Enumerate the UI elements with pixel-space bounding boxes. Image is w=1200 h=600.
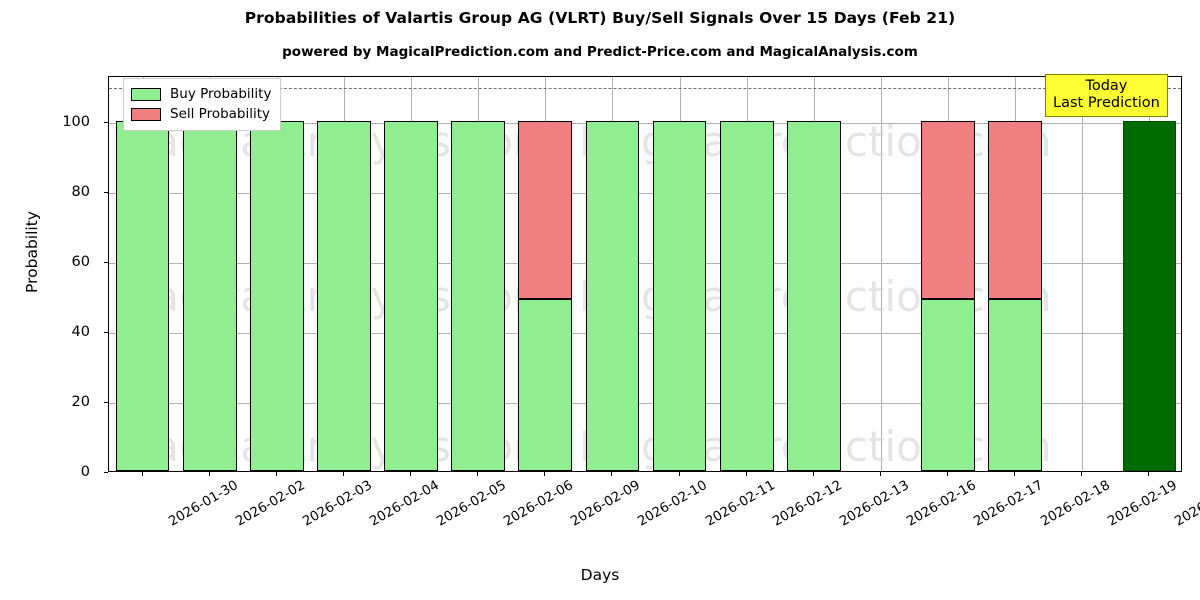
bar-segment-buy[interactable] xyxy=(720,121,774,471)
x-tick-mark xyxy=(544,472,545,476)
x-tick-label: 2026-02-16 xyxy=(904,478,978,530)
legend-item-buy: Buy Probability xyxy=(131,84,271,104)
bar-column[interactable] xyxy=(451,77,505,471)
x-tick-mark xyxy=(880,472,881,476)
bar-segment-buy[interactable] xyxy=(183,121,237,471)
chart-page: Probabilities of Valartis Group AG (VLRT… xyxy=(0,0,1200,600)
gridline-vertical xyxy=(881,77,882,471)
y-tick-label: 100 xyxy=(30,114,90,130)
x-tick-label: 2026-02-10 xyxy=(636,478,710,530)
x-tick-label: 2026-02-04 xyxy=(367,478,441,530)
x-tick-label: 2026-02-18 xyxy=(1039,478,1113,530)
y-tick-label: 40 xyxy=(30,324,90,340)
y-tick-mark xyxy=(104,472,108,473)
bar-segment-buy[interactable] xyxy=(451,121,505,471)
y-tick-label: 20 xyxy=(30,394,90,410)
x-tick-mark xyxy=(813,472,814,476)
legend: Buy Probability Sell Probability xyxy=(123,78,281,131)
bar-column[interactable] xyxy=(921,77,975,471)
x-tick-label: 2026-02-12 xyxy=(770,478,844,530)
x-tick-label: 2026-02-13 xyxy=(837,478,911,530)
x-tick-label: 2026-02-17 xyxy=(971,478,1045,530)
x-tick-label: 2026-02-05 xyxy=(434,478,508,530)
y-tick-label: 60 xyxy=(30,254,90,270)
today-annotation-line1: Today xyxy=(1053,78,1160,95)
x-axis-title: Days xyxy=(0,566,1200,584)
x-tick-mark xyxy=(947,472,948,476)
bar-segment-buy[interactable] xyxy=(518,299,572,471)
x-tick-mark xyxy=(1148,472,1149,476)
legend-item-sell: Sell Probability xyxy=(131,104,271,124)
chart-subtitle: powered by MagicalPrediction.com and Pre… xyxy=(0,44,1200,60)
x-tick-mark xyxy=(276,472,277,476)
x-tick-mark xyxy=(1081,472,1082,476)
bar-segment-buy[interactable] xyxy=(384,121,438,471)
today-annotation-line2: Last Prediction xyxy=(1053,95,1160,112)
y-tick-label: 80 xyxy=(30,184,90,200)
bar-column[interactable] xyxy=(116,77,170,471)
x-tick-mark xyxy=(1014,472,1015,476)
x-tick-mark xyxy=(679,472,680,476)
x-tick-mark xyxy=(611,472,612,476)
today-annotation: Today Last Prediction xyxy=(1045,74,1168,117)
x-tick-label: 2026-02-06 xyxy=(502,478,576,530)
x-tick-mark xyxy=(343,472,344,476)
chart-title: Probabilities of Valartis Group AG (VLRT… xyxy=(0,9,1200,27)
x-tick-label: 2026-01-30 xyxy=(166,478,240,530)
bar-column[interactable] xyxy=(787,77,841,471)
bar-segment-buy[interactable] xyxy=(116,121,170,471)
x-tick-mark xyxy=(142,472,143,476)
x-tick-label: 2026-02-11 xyxy=(703,478,777,530)
bar-column[interactable] xyxy=(720,77,774,471)
bar-column[interactable] xyxy=(1123,77,1177,471)
plot-area: MagicalAnalysis.comMagicalPrediction.com… xyxy=(108,76,1182,472)
bar-column[interactable] xyxy=(518,77,572,471)
bar-column[interactable] xyxy=(317,77,371,471)
x-tick-label: 2026-02-19 xyxy=(1106,478,1180,530)
bar-segment-buy[interactable] xyxy=(988,299,1042,471)
gridline-vertical xyxy=(1082,77,1083,471)
x-tick-mark xyxy=(410,472,411,476)
bar-column[interactable] xyxy=(183,77,237,471)
bar-column[interactable] xyxy=(586,77,640,471)
x-tick-label: 2026-02-03 xyxy=(300,478,374,530)
bar-segment-buy[interactable] xyxy=(317,121,371,471)
x-tick-mark xyxy=(746,472,747,476)
bar-column[interactable] xyxy=(988,77,1042,471)
bar-column[interactable] xyxy=(250,77,304,471)
bar-segment-today[interactable] xyxy=(1123,121,1177,471)
bar-segment-sell[interactable] xyxy=(921,121,975,300)
y-axis-title: Probability xyxy=(23,52,41,452)
bar-segment-sell[interactable] xyxy=(988,121,1042,300)
bar-segment-buy[interactable] xyxy=(921,299,975,471)
legend-swatch-sell-icon xyxy=(131,108,161,121)
x-tick-mark xyxy=(209,472,210,476)
bar-column[interactable] xyxy=(384,77,438,471)
bar-segment-buy[interactable] xyxy=(586,121,640,471)
legend-label-buy: Buy Probability xyxy=(170,86,271,102)
x-tick-label: 2026-02-09 xyxy=(569,478,643,530)
y-tick-label: 0 xyxy=(30,464,90,480)
bar-column[interactable] xyxy=(653,77,707,471)
x-tick-mark xyxy=(477,472,478,476)
legend-label-sell: Sell Probability xyxy=(170,106,270,122)
legend-swatch-buy-icon xyxy=(131,88,161,101)
bar-segment-buy[interactable] xyxy=(250,121,304,471)
x-tick-label: 2026-02-02 xyxy=(233,478,307,530)
bar-segment-buy[interactable] xyxy=(653,121,707,471)
plot-inner: MagicalAnalysis.comMagicalPrediction.com… xyxy=(109,77,1181,471)
bar-segment-sell[interactable] xyxy=(518,121,572,300)
bar-segment-buy[interactable] xyxy=(787,121,841,471)
